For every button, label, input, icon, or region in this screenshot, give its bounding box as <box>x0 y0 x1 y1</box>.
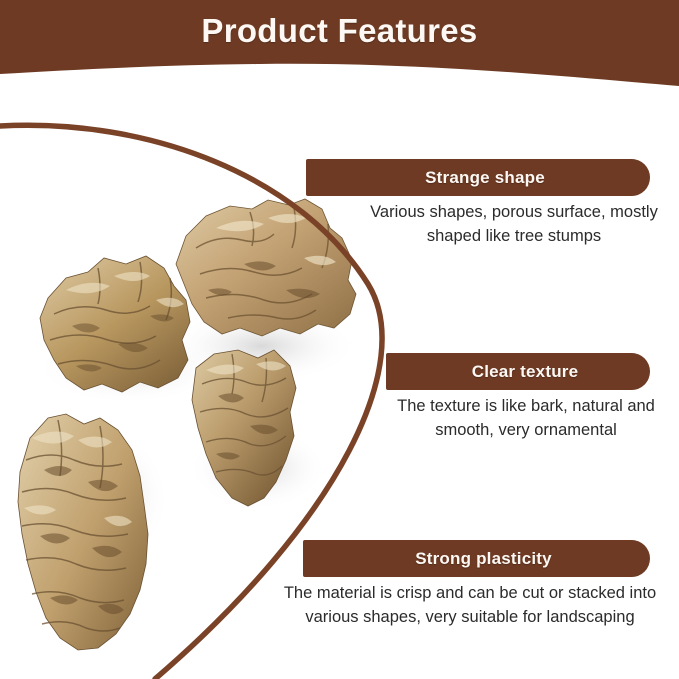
feature-label-pill-3: Strong plasticity <box>303 540 650 577</box>
feature-label-pill-2: Clear texture <box>386 353 650 390</box>
feature-label-2: Clear texture <box>458 362 579 382</box>
product-features-infographic: Product Features Strange shape Various s… <box>0 0 679 679</box>
page-title: Product Features <box>0 12 679 50</box>
feature-label-1: Strange shape <box>411 168 545 188</box>
feature-label-3: Strong plasticity <box>401 549 552 569</box>
feature-label-pill-1: Strange shape <box>306 159 650 196</box>
feature-description-3: The material is crisp and can be cut or … <box>264 581 676 629</box>
feature-description-1: Various shapes, porous surface, mostly s… <box>364 200 664 248</box>
feature-description-2: The texture is like bark, natural and sm… <box>378 394 674 442</box>
